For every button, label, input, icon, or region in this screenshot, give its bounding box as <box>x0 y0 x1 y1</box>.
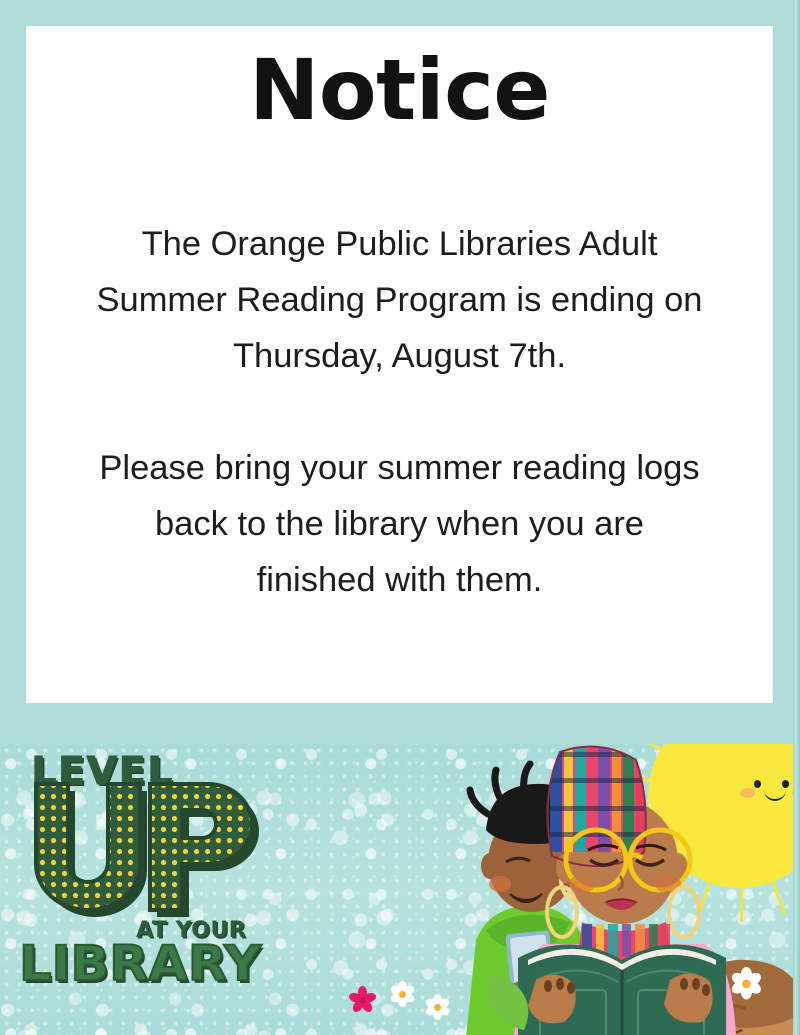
level-up-library-logo: LEVEL AT YOUR LIBRARY <box>18 752 283 982</box>
instruction-line-2: back to the library when you are <box>155 505 644 543</box>
instruction-line-1: Please bring your summer reading logs <box>99 449 699 487</box>
page-right-edge <box>793 0 800 1035</box>
announcement-line-3: Thursday, August 7th. <box>233 337 566 375</box>
notice-body: The Orange Public Libraries Adult Summer… <box>56 216 743 608</box>
notice-card: Notice The Orange Public Libraries Adult… <box>26 26 773 703</box>
announcement-line-1: The Orange Public Libraries Adult <box>142 225 658 263</box>
instruction-paragraph: Please bring your summer reading logs ba… <box>56 440 743 608</box>
earring-right <box>669 887 699 937</box>
notice-poster: Notice The Orange Public Libraries Adult… <box>0 0 800 1035</box>
instruction-line-3: finished with them. <box>257 561 543 599</box>
logo-up-mark <box>26 780 276 930</box>
logo-letter-u <box>36 784 140 910</box>
announcement-paragraph: The Orange Public Libraries Adult Summer… <box>56 216 743 384</box>
flower-white-1 <box>390 981 418 1007</box>
logo-library-text: LIBRARY <box>19 940 261 988</box>
logo-letter-p <box>150 784 252 910</box>
flower-white-2 <box>425 994 451 1018</box>
head-wrap <box>550 744 648 852</box>
announcement-line-2: Summer Reading Program is ending on <box>97 281 703 319</box>
page-title: Notice <box>26 48 773 132</box>
flower-white-hair <box>731 967 774 1007</box>
flower-pink <box>350 987 376 1011</box>
illustration-band: LEVEL AT YOUR LIBRARY <box>0 744 793 1035</box>
